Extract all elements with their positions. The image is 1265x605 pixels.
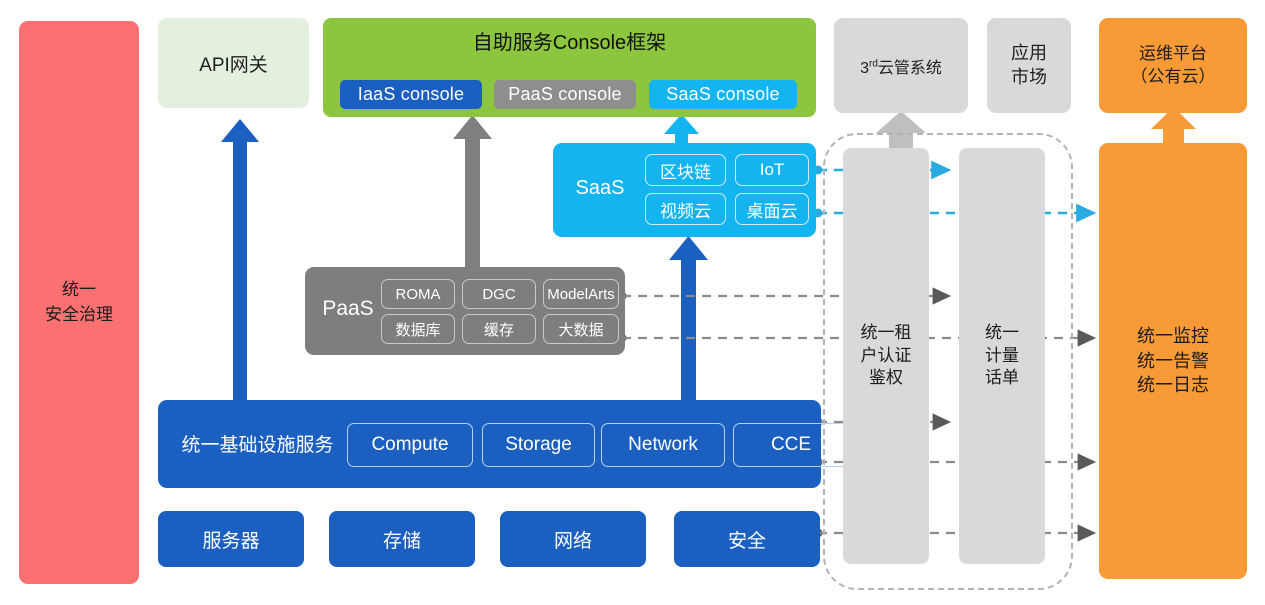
auth-line-3: 鉴权 bbox=[861, 367, 912, 389]
ops-platform-box: 运维平台 （公有云） bbox=[1099, 18, 1247, 113]
governance-line-1: 统一 bbox=[45, 278, 113, 302]
third-cloud-superscript: rd bbox=[869, 58, 878, 69]
ops-platform-line-1: 运维平台 bbox=[1131, 43, 1216, 66]
infra-item-compute[interactable]: Compute bbox=[347, 423, 473, 467]
resource-box-network[interactable]: 网络 bbox=[500, 511, 646, 567]
unified-infrastructure-layer: 统一基础设施服务 Compute Storage Network CCE bbox=[158, 400, 821, 488]
auth-line-1: 统一租 bbox=[861, 322, 912, 344]
arrow-paas-to-console bbox=[453, 115, 492, 267]
third-cloud-label: 3rd云管系统 bbox=[860, 54, 942, 78]
saas-item-blockchain[interactable]: 区块链 bbox=[645, 154, 726, 186]
saas-layer-label: SaaS bbox=[565, 177, 635, 200]
paas-item-database[interactable]: 数据库 bbox=[381, 314, 455, 344]
paas-item-roma[interactable]: ROMA bbox=[381, 279, 455, 309]
architecture-diagram: 统一 安全治理 API网关 自助服务Console框架 IaaS console… bbox=[0, 0, 1265, 605]
resource-box-server[interactable]: 服务器 bbox=[158, 511, 304, 567]
arrow-saas-to-console bbox=[664, 114, 699, 144]
unified-metering-billing-column: 统一 计量 话单 bbox=[959, 148, 1045, 564]
infra-item-storage[interactable]: Storage bbox=[482, 423, 595, 467]
paas-item-dgc[interactable]: DGC bbox=[462, 279, 536, 309]
paas-layer: PaaS ROMA DGC ModelArts 数据库 缓存 大数据 bbox=[305, 267, 625, 355]
ops-platform-line-2: （公有云） bbox=[1131, 66, 1216, 89]
ops-bar-line-3: 统一日志 bbox=[1137, 373, 1209, 398]
saas-item-desktop-cloud[interactable]: 桌面云 bbox=[735, 193, 809, 225]
arrow-infra-to-apigw bbox=[221, 119, 259, 401]
ops-bar-line-2: 统一告警 bbox=[1137, 349, 1209, 374]
paas-item-cache[interactable]: 缓存 bbox=[462, 314, 536, 344]
unified-tenant-auth-column: 统一租 户认证 鉴权 bbox=[843, 148, 929, 564]
third-party-cloud-management-box: 3rd云管系统 bbox=[834, 18, 968, 113]
iaas-console-pill[interactable]: IaaS console bbox=[340, 80, 482, 109]
arrow-infra-to-saas bbox=[669, 236, 708, 402]
infra-item-network[interactable]: Network bbox=[601, 423, 725, 467]
infra-item-cce[interactable]: CCE bbox=[733, 423, 849, 467]
ops-monitoring-bar: 统一监控 统一告警 统一日志 bbox=[1099, 143, 1247, 579]
api-gateway-label: API网关 bbox=[199, 50, 268, 77]
unified-security-governance-panel: 统一 安全治理 bbox=[19, 21, 139, 584]
saas-item-iot[interactable]: IoT bbox=[735, 154, 809, 186]
auth-line-2: 户认证 bbox=[861, 345, 912, 367]
governance-line-2: 安全治理 bbox=[45, 303, 113, 327]
third-cloud-prefix: 3 bbox=[860, 60, 869, 77]
paas-console-pill[interactable]: PaaS console bbox=[494, 80, 636, 109]
paas-item-big-data[interactable]: 大数据 bbox=[543, 314, 619, 344]
app-market-box: 应用 市场 bbox=[987, 18, 1071, 113]
paas-layer-label: PaaS bbox=[313, 297, 383, 321]
metering-line-1: 统一 bbox=[985, 322, 1019, 344]
ops-bar-line-1: 统一监控 bbox=[1137, 324, 1209, 349]
saas-item-video-cloud[interactable]: 视频云 bbox=[645, 193, 726, 225]
metering-line-2: 计量 bbox=[985, 345, 1019, 367]
paas-item-modelarts[interactable]: ModelArts bbox=[543, 279, 619, 309]
infrastructure-label: 统一基础设施服务 bbox=[170, 430, 345, 457]
api-gateway-box: API网关 bbox=[158, 18, 309, 108]
resource-box-security[interactable]: 安全 bbox=[674, 511, 820, 567]
console-frame-title: 自助服务Console框架 bbox=[323, 26, 816, 55]
third-cloud-suffix: 云管系统 bbox=[878, 60, 942, 77]
resource-box-storage[interactable]: 存储 bbox=[329, 511, 475, 567]
app-market-line-2: 市场 bbox=[1011, 66, 1047, 90]
metering-line-3: 话单 bbox=[985, 367, 1019, 389]
saas-layer: SaaS 区块链 IoT 视频云 桌面云 bbox=[553, 143, 816, 237]
self-service-console-frame: 自助服务Console框架 IaaS console PaaS console … bbox=[323, 18, 816, 117]
app-market-line-1: 应用 bbox=[1011, 42, 1047, 66]
saas-console-pill[interactable]: SaaS console bbox=[649, 80, 797, 109]
